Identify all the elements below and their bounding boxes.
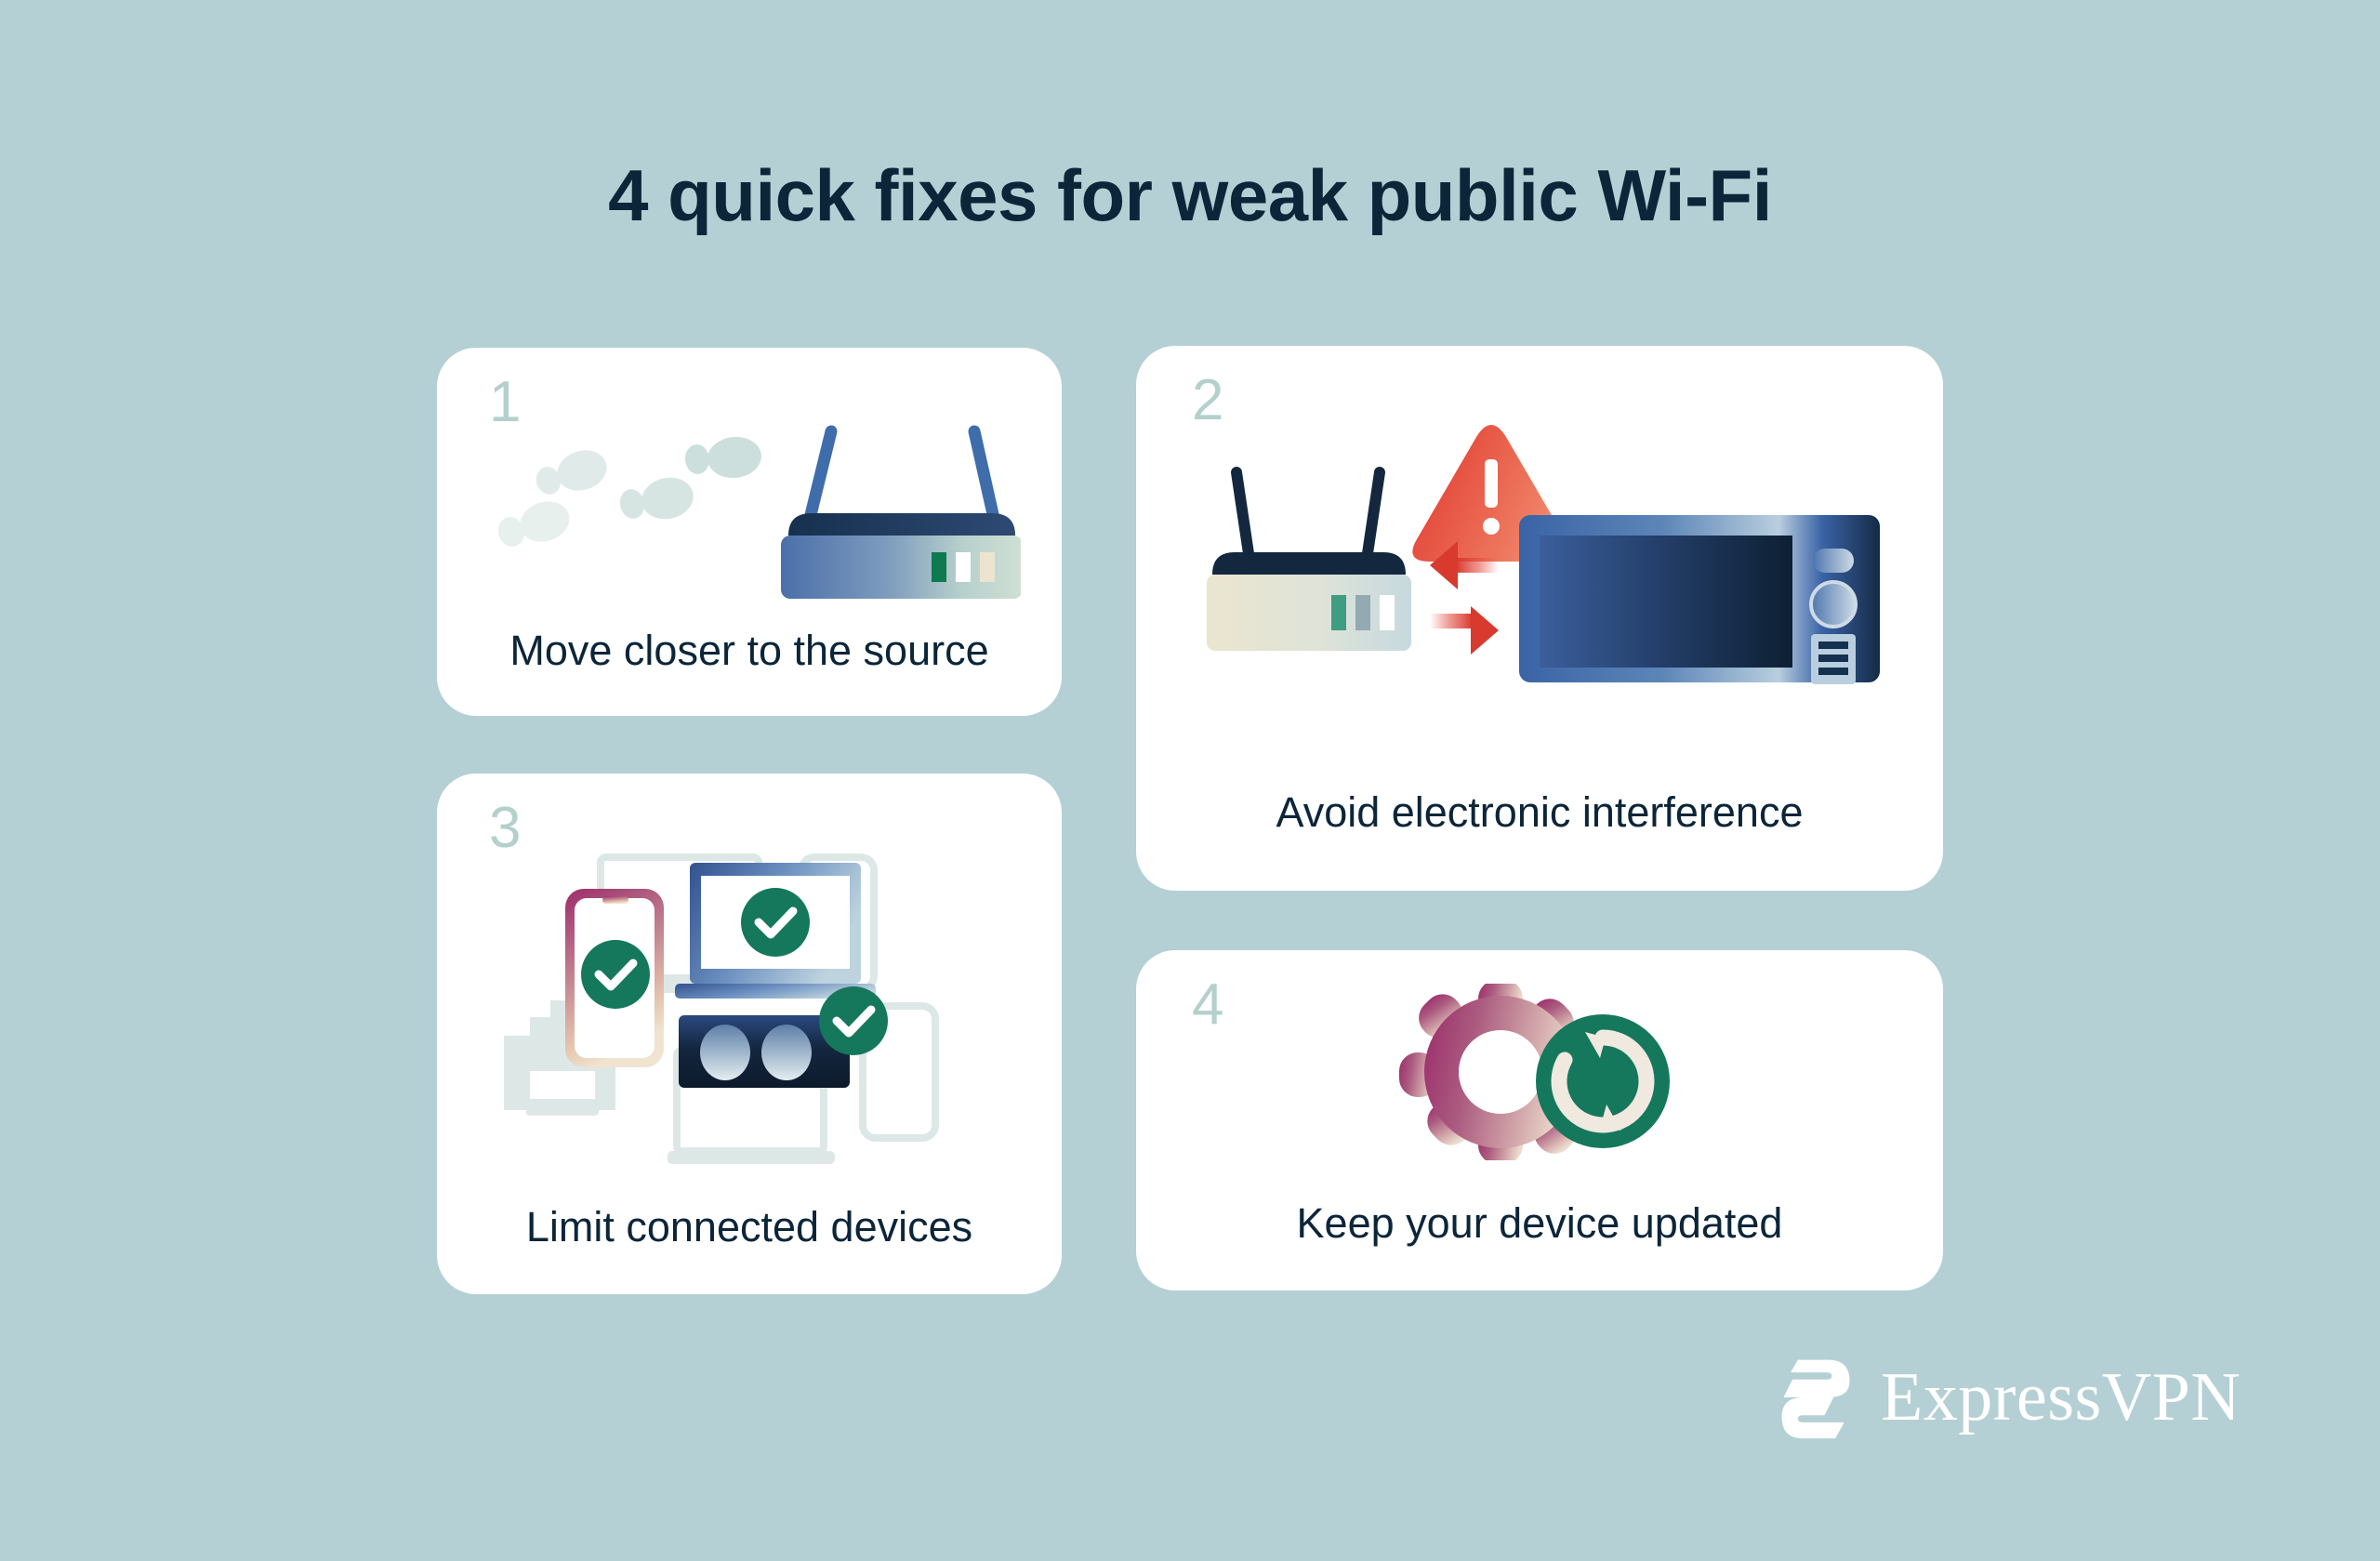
fix-card-3: 3 — [437, 774, 1062, 1294]
gear-center-hole — [1459, 1030, 1542, 1114]
page-title: 4 quick fixes for weak public Wi-Fi — [0, 156, 2380, 236]
card-caption-4: Keep your device updated — [1136, 1197, 1943, 1250]
card-caption-1: Move closer to the source — [437, 625, 1062, 677]
tower-base — [526, 1103, 599, 1116]
router-warning-microwave-illustration — [1201, 402, 1880, 727]
footprint-icon — [495, 434, 763, 549]
expressvpn-mark-icon — [1771, 1353, 1860, 1442]
expressvpn-logo: ExpressVPN — [1771, 1353, 2241, 1442]
check-circle-icon — [581, 940, 650, 1009]
arrow-right-icon — [1430, 606, 1499, 655]
fix-card-4: 4 — [1136, 950, 1943, 1290]
fix-card-2: 2 — [1136, 346, 1943, 891]
refresh-icon — [1536, 1014, 1670, 1148]
card-number-4: 4 — [1192, 976, 1223, 1034]
card-caption-2: Avoid electronic interference — [1136, 787, 1943, 839]
card-caption-3: Limit connected devices — [437, 1201, 1062, 1253]
connected-devices-illustration — [502, 844, 1004, 1197]
footprints-and-router-illustration — [482, 422, 1021, 608]
check-circle-icon — [741, 888, 810, 957]
laptop-ghost-base — [668, 1151, 835, 1164]
fix-card-1: 1 — [437, 348, 1062, 716]
wifi-router-icon — [1207, 472, 1411, 651]
expressvpn-wordmark: ExpressVPN — [1881, 1363, 2241, 1432]
microwave-icon — [1519, 515, 1880, 684]
wifi-router-icon — [781, 431, 1021, 599]
gear-and-refresh-illustration — [1368, 984, 1712, 1160]
check-circle-icon — [819, 986, 888, 1055]
tower-panel — [530, 1071, 595, 1099]
